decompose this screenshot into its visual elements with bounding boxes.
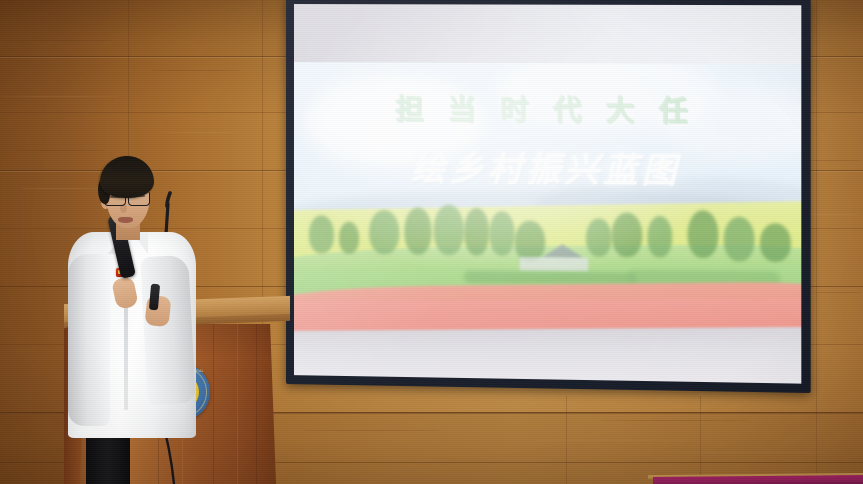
screen-surface: 担 当 时 代 大 任 绘乡村振兴蓝图 (294, 4, 801, 384)
slide-image: 担 当 时 代 大 任 绘乡村振兴蓝图 (294, 62, 801, 384)
foreground-road (294, 327, 801, 384)
mouth (118, 217, 133, 223)
right-arm (140, 255, 196, 405)
hair (100, 156, 154, 198)
stage-skirt (653, 475, 863, 484)
projection-screen[interactable]: 担 当 时 代 大 任 绘乡村振兴蓝图 (286, 0, 801, 384)
left-arm (68, 254, 110, 426)
slide-title-line1: 担 当 时 代 大 任 (294, 87, 801, 131)
photo-scene: 担 当 时 代 大 任 绘乡村振兴蓝图 CHINA AGRICULTURAL U… (0, 0, 863, 484)
slide-title-line2: 绘乡村振兴蓝图 (294, 140, 801, 194)
presenter (58, 156, 208, 484)
trousers (86, 432, 130, 484)
screen-frame: 担 当 时 代 大 任 绘乡村振兴蓝图 (286, 0, 811, 393)
farmhouse (515, 243, 606, 273)
